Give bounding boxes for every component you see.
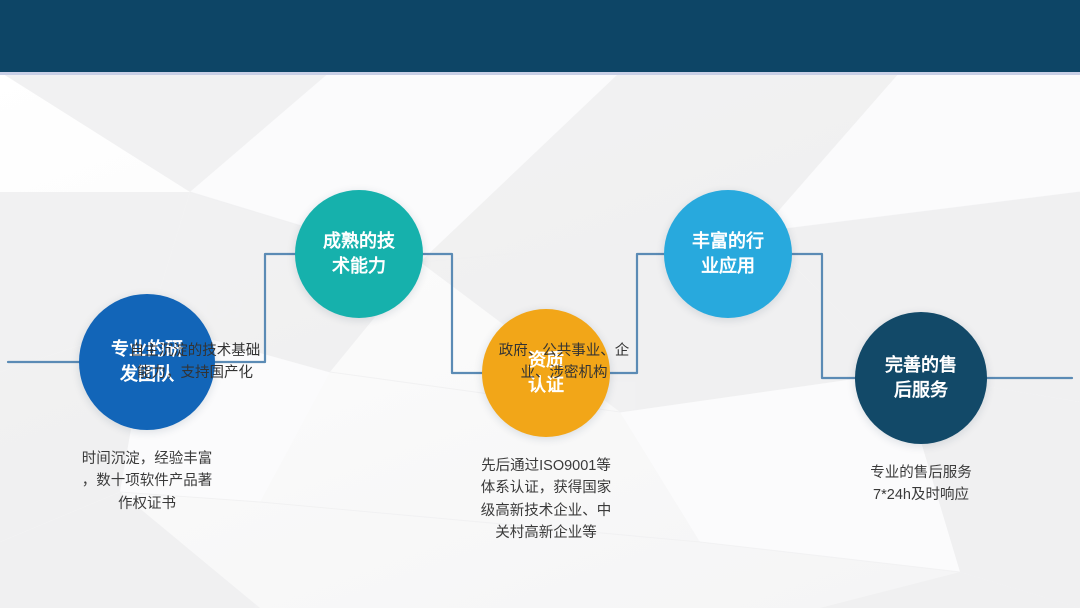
node-tech-capability-label: 成熟的技 术能力 — [313, 229, 405, 279]
node-industry-apps[interactable]: 丰富的行 业应用 — [664, 190, 792, 318]
node-industry-apps-label: 丰富的行 业应用 — [682, 229, 774, 279]
node-industry-apps-caption: 政府、公共事业、企 业、涉密机构 — [479, 340, 649, 385]
node-after-sales[interactable]: 完善的售 后服务 — [855, 312, 987, 444]
slide-canvas: 我们的优势 专业的研 发团队时间沉淀，经验丰富 ，数十项软件产品著 作权证书成熟… — [0, 0, 1080, 608]
node-after-sales-caption: 专业的售后服务 7*24h及时响应 — [821, 462, 1021, 507]
node-tech-capability-caption: 自主沉淀的技术基础 能力，支持国产化 — [110, 340, 280, 385]
node-qualification-caption: 先后通过ISO9001等 体系认证，获得国家 级高新技术企业、中 关村高新企业等 — [446, 455, 646, 545]
node-after-sales-label: 完善的售 后服务 — [875, 353, 967, 403]
node-tech-capability[interactable]: 成熟的技 术能力 — [295, 190, 423, 318]
node-rd-team-caption: 时间沉淀，经验丰富 ，数十项软件产品著 作权证书 — [47, 448, 247, 515]
header-underline — [0, 72, 1080, 75]
header-bar — [0, 0, 1080, 72]
connector-4-5 — [792, 254, 855, 378]
connector-2-3 — [423, 254, 482, 373]
